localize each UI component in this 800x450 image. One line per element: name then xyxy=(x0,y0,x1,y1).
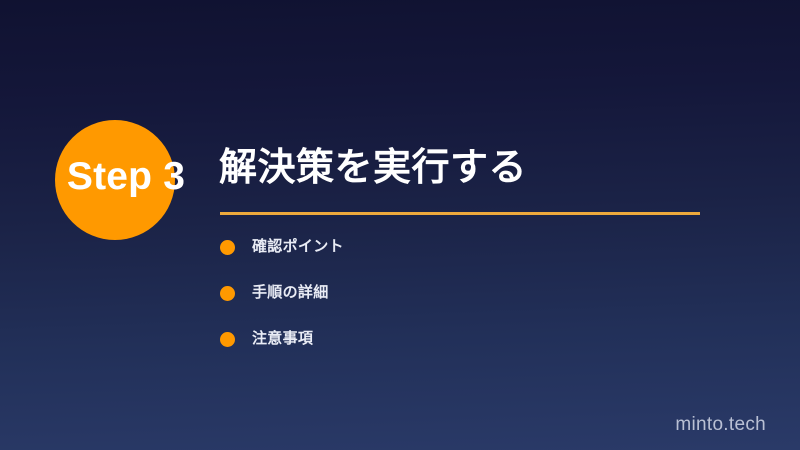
list-item: 確認ポイント xyxy=(220,240,680,286)
slide-canvas: Step 3 解決策を実行する 確認ポイント 手順の詳細 注意事項 minto.… xyxy=(0,0,800,450)
list-item-label: 手順の詳細 xyxy=(252,282,329,304)
title-divider xyxy=(220,212,700,215)
dot-icon xyxy=(220,332,235,347)
dot-icon xyxy=(220,286,235,301)
list-item-label: 確認ポイント xyxy=(252,236,344,258)
step-badge-label: Step 3 xyxy=(46,153,206,201)
bullet-list: 確認ポイント 手順の詳細 注意事項 xyxy=(220,240,680,378)
list-item-label: 注意事項 xyxy=(252,328,313,350)
list-item: 注意事項 xyxy=(220,332,680,378)
list-item: 手順の詳細 xyxy=(220,286,680,332)
dot-icon xyxy=(220,240,235,255)
slide-title: 解決策を実行する xyxy=(219,142,527,194)
footer-brand: minto.tech xyxy=(675,414,766,436)
